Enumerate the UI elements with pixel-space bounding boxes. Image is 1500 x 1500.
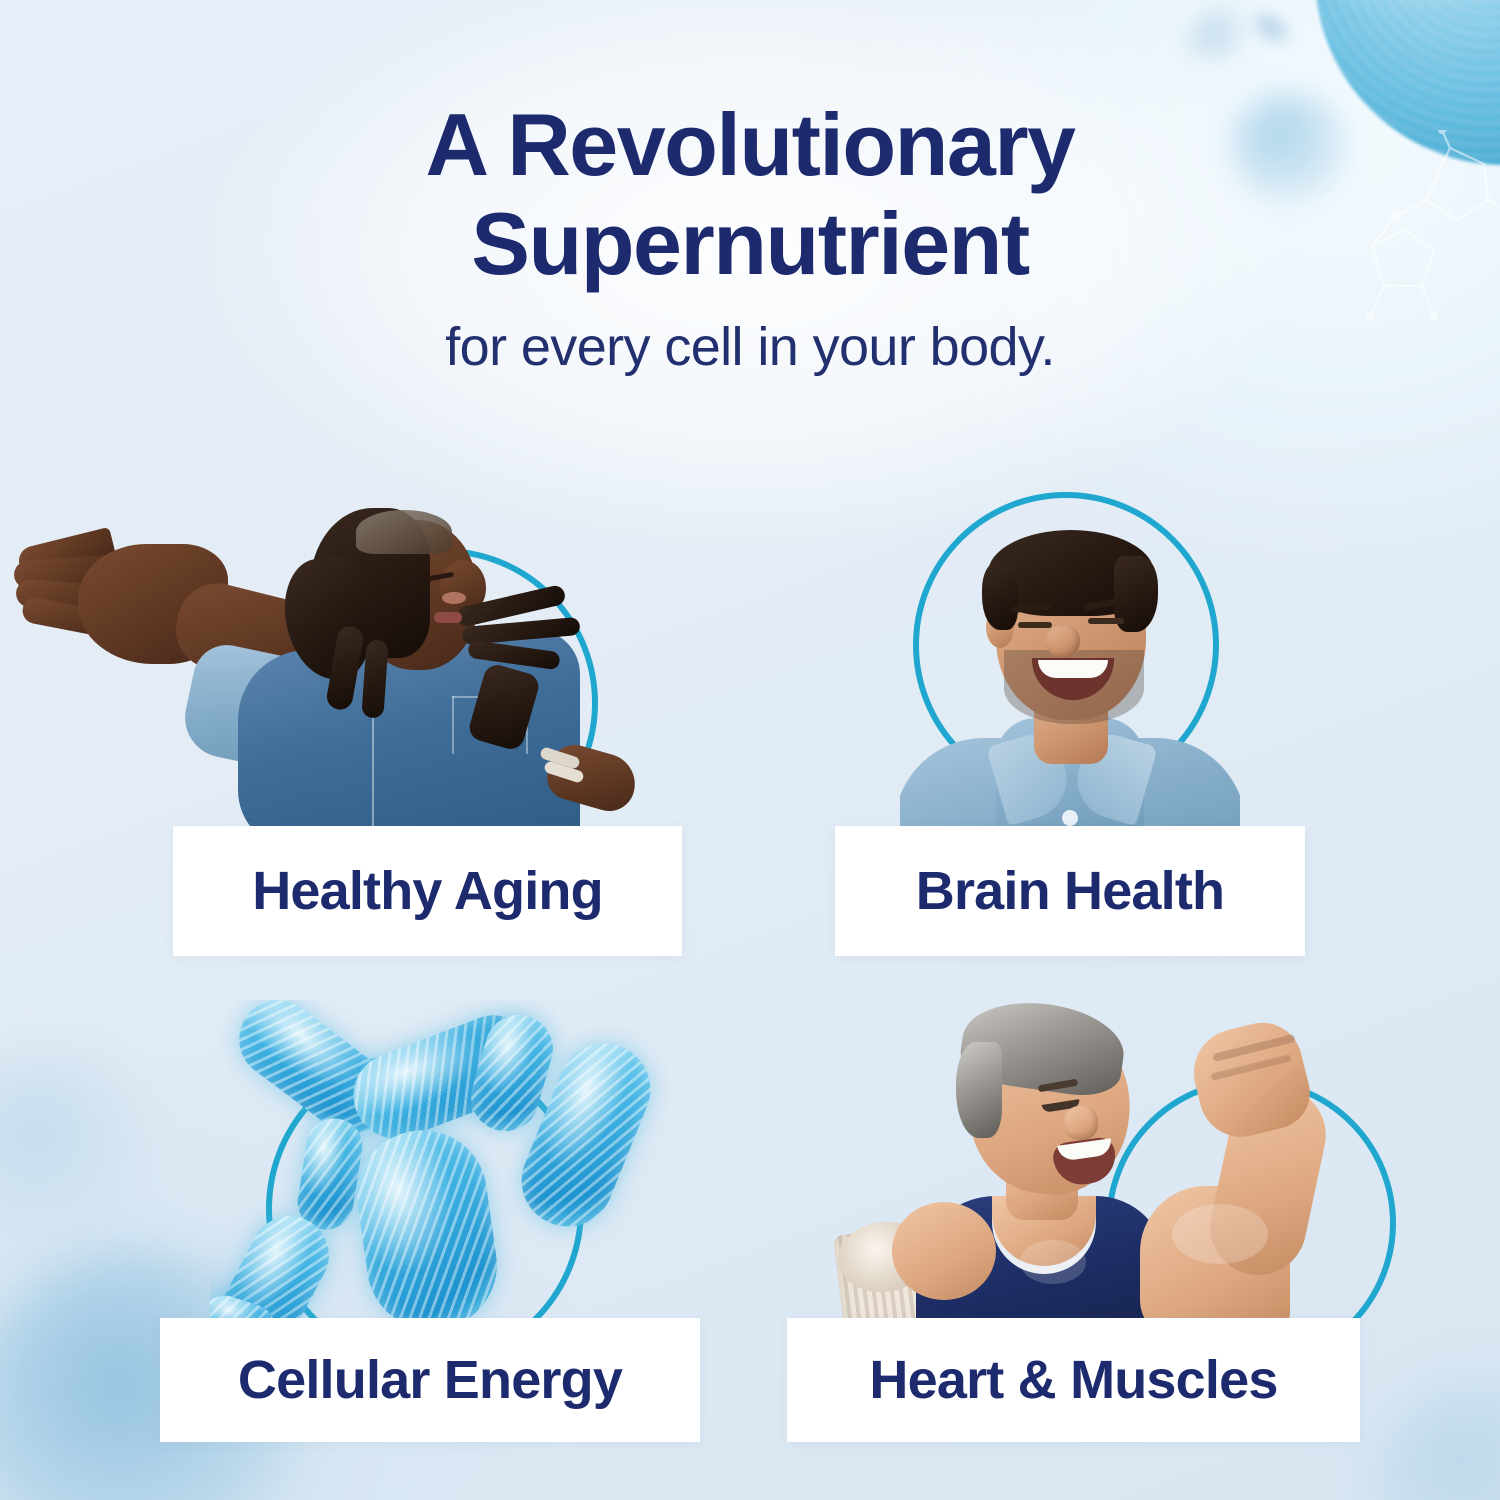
benefit-label-card[interactable]: Heart & Muscles	[787, 1318, 1360, 1442]
benefit-label-card[interactable]: Cellular Energy	[160, 1318, 700, 1442]
cell-blob-icon	[0, 1050, 150, 1250]
cell-blob-icon	[1370, 1380, 1500, 1500]
benefit-label-text: Cellular Energy	[238, 1349, 622, 1411]
benefit-label-text: Brain Health	[916, 860, 1224, 922]
photo-healthy-aging	[0, 500, 640, 840]
infographic-canvas: A Revolutionary Supernutrient for every …	[0, 0, 1500, 1500]
benefit-label-card[interactable]: Brain Health	[835, 826, 1305, 956]
photo-mitochondria	[210, 1000, 670, 1330]
photo-brain-health	[900, 500, 1240, 840]
photo-heart-muscles	[820, 990, 1380, 1340]
benefit-label-text: Heart & Muscles	[869, 1349, 1277, 1411]
benefit-tile-healthy-aging[interactable]: Healthy Aging	[0, 0, 700, 500]
cell-blob-icon	[1175, 0, 1268, 75]
cell-blob-icon	[1246, 5, 1303, 58]
benefit-label-card[interactable]: Healthy Aging	[173, 826, 682, 956]
benefit-label-text: Healthy Aging	[252, 860, 603, 922]
